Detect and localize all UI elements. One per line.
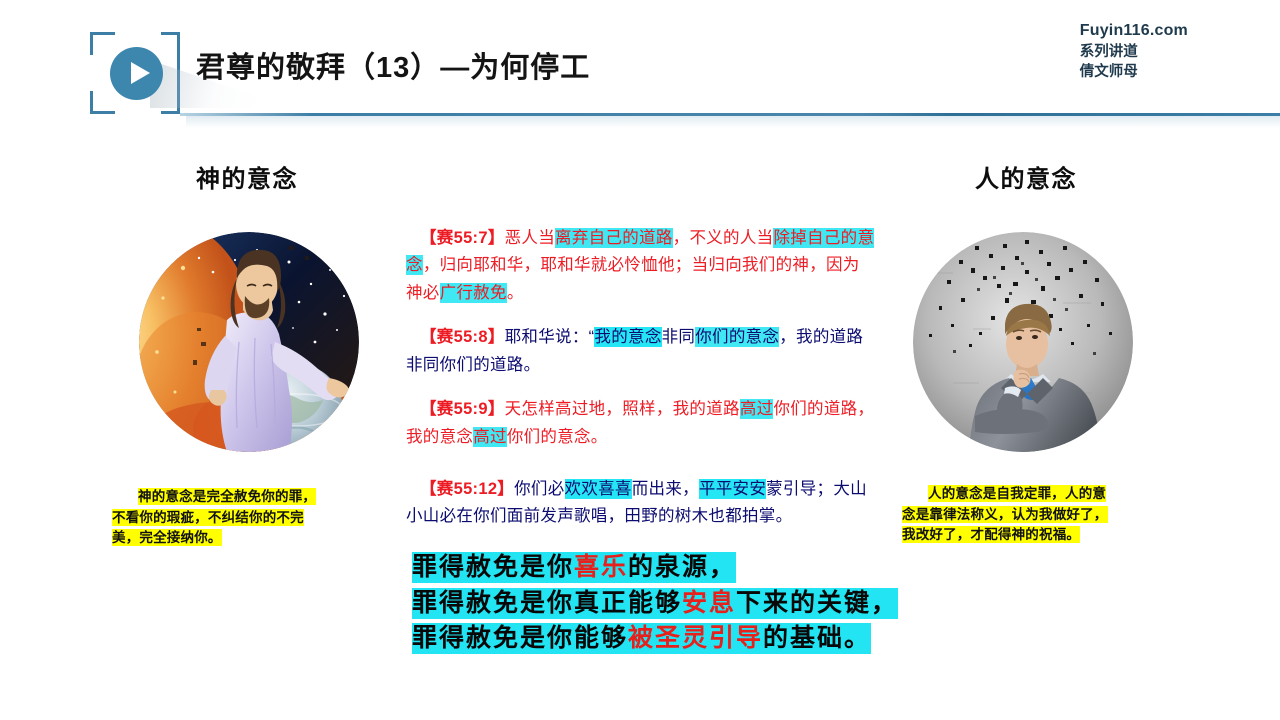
page-title: 君尊的敬拜（13）—为何停工 — [196, 44, 590, 86]
left-caption-line-3: 美，完全接纳你。 — [112, 528, 384, 549]
left-column-heading: 神的意念 — [196, 159, 298, 194]
conclusion-text: 罪得赦免是你真正能够 — [412, 590, 682, 617]
verse-text: ，不义的人当 — [673, 229, 774, 247]
conclusion-block: 罪得赦免是你喜乐的泉源，罪得赦免是你真正能够安息下来的关键，罪得赦免是你能够被圣… — [412, 550, 912, 657]
verse-text: 恶人当 — [505, 229, 555, 247]
header-underglow — [186, 116, 1280, 128]
left-caption-line-2: 不看你的瑕疵，不纠结你的不完 — [112, 508, 384, 529]
cyan-highlight: 高过 — [740, 399, 774, 419]
right-image-caption: 人的意念是自我定罪，人的意 念是靠律法称义，认为我做好了， 我改好了，才配得神的… — [902, 484, 1164, 546]
brand-series-label: 系列讲道 — [1080, 42, 1188, 62]
bracket-notch-top — [115, 32, 161, 37]
conclusion-keyword: 安息 — [682, 590, 736, 617]
cyan-highlight: 广行赦免 — [440, 283, 507, 303]
conclusion-line-2: 罪得赦免是你真正能够安息下来的关键， — [412, 586, 912, 622]
cyan-highlight: 高过 — [473, 427, 507, 447]
conclusion-text: 的泉源， — [628, 554, 736, 581]
conclusion-line-3: 罪得赦免是你能够被圣灵引导的基础。 — [412, 621, 912, 657]
cyan-highlight: 罪得赦免是你真正能够安息下来的关键， — [412, 588, 898, 619]
thinking-man-photo — [913, 232, 1133, 452]
verse-2: 【赛55:8】耶和华说：“我的意念非同你们的意念，我的道路非同你们的道路。 — [406, 324, 876, 379]
left-caption-line-1: 神的意念是完全赦免你的罪， — [112, 487, 384, 508]
conclusion-text: 罪得赦免是你能够 — [412, 625, 628, 652]
verse-text: 而出来， — [632, 480, 699, 498]
verse-4: 【赛55:12】你们必欢欢喜喜而出来，平平安安蒙引导；大山小山必在你们面前发声歌… — [406, 476, 876, 531]
play-circle-icon[interactable] — [110, 47, 163, 100]
verse-text: 。 — [507, 284, 524, 302]
verse-text: 天怎样高过地，照样，我的道路 — [505, 400, 740, 418]
verse-label: 【赛55:7】 — [420, 229, 505, 247]
jesus-cosmos-illustration — [139, 232, 359, 452]
conclusion-keyword: 喜乐 — [574, 554, 628, 581]
cyan-highlight: 我的意念 — [594, 327, 661, 347]
conclusion-text: 下来的关键， — [736, 590, 898, 617]
verse-3: 【赛55:9】天怎样高过地，照样，我的道路高过你们的道路，我的意念高过你们的意念… — [406, 396, 876, 451]
verse-text: 你们必 — [514, 480, 564, 498]
verse-text: 你们的意念。 — [507, 428, 608, 446]
cyan-highlight: 罪得赦免是你喜乐的泉源， — [412, 552, 736, 583]
conclusion-keyword: 被圣灵引导 — [628, 625, 763, 652]
left-image-caption: 神的意念是完全赦免你的罪， 不看你的瑕疵，不纠结你的不完 美，完全接纳你。 — [112, 487, 384, 549]
bracket-notch-left-lower — [90, 69, 95, 91]
verse-1: 【赛55:7】恶人当离弃自己的道路，不义的人当除掉自己的意念，归向耶和华，耶和华… — [406, 225, 876, 308]
verse-text: 非同 — [662, 328, 696, 346]
bracket-notch-bottom — [115, 109, 161, 114]
right-column-heading: 人的意念 — [975, 159, 1077, 194]
verse-label: 【赛55:12】 — [420, 480, 514, 498]
right-caption-line-2: 念是靠律法称义，认为我做好了， — [902, 505, 1164, 526]
conclusion-text: 的基础。 — [763, 625, 871, 652]
cyan-highlight: 你们的意念 — [695, 327, 779, 347]
brand-block: Fuyin116.com 系列讲道 倩文师母 — [1080, 20, 1188, 82]
conclusion-line-1: 罪得赦免是你喜乐的泉源， — [412, 550, 912, 586]
conclusion-text: 罪得赦免是你 — [412, 554, 574, 581]
page-header: 君尊的敬拜（13）—为何停工 Fuyin116.com 系列讲道 倩文师母 — [0, 0, 1280, 128]
cyan-highlight: 罪得赦免是你能够被圣灵引导的基础。 — [412, 623, 871, 654]
cyan-highlight: 平平安安 — [699, 479, 766, 499]
cyan-highlight: 欢欢喜喜 — [565, 479, 632, 499]
right-caption-line-3: 我改好了，才配得神的祝福。 — [902, 525, 1164, 546]
brand-speaker-label: 倩文师母 — [1080, 62, 1188, 82]
right-caption-line-1: 人的意念是自我定罪，人的意 — [902, 484, 1164, 505]
cyan-highlight: 离弃自己的道路 — [555, 228, 673, 248]
verse-text: 耶和华说：“ — [505, 328, 595, 346]
verse-label: 【赛55:8】 — [420, 328, 505, 346]
scripture-block: 【赛55:7】恶人当离弃自己的道路，不义的人当除掉自己的意念，归向耶和华，耶和华… — [406, 208, 876, 531]
verse-label: 【赛55:9】 — [420, 400, 505, 418]
brand-site-name: Fuyin116.com — [1080, 20, 1188, 42]
